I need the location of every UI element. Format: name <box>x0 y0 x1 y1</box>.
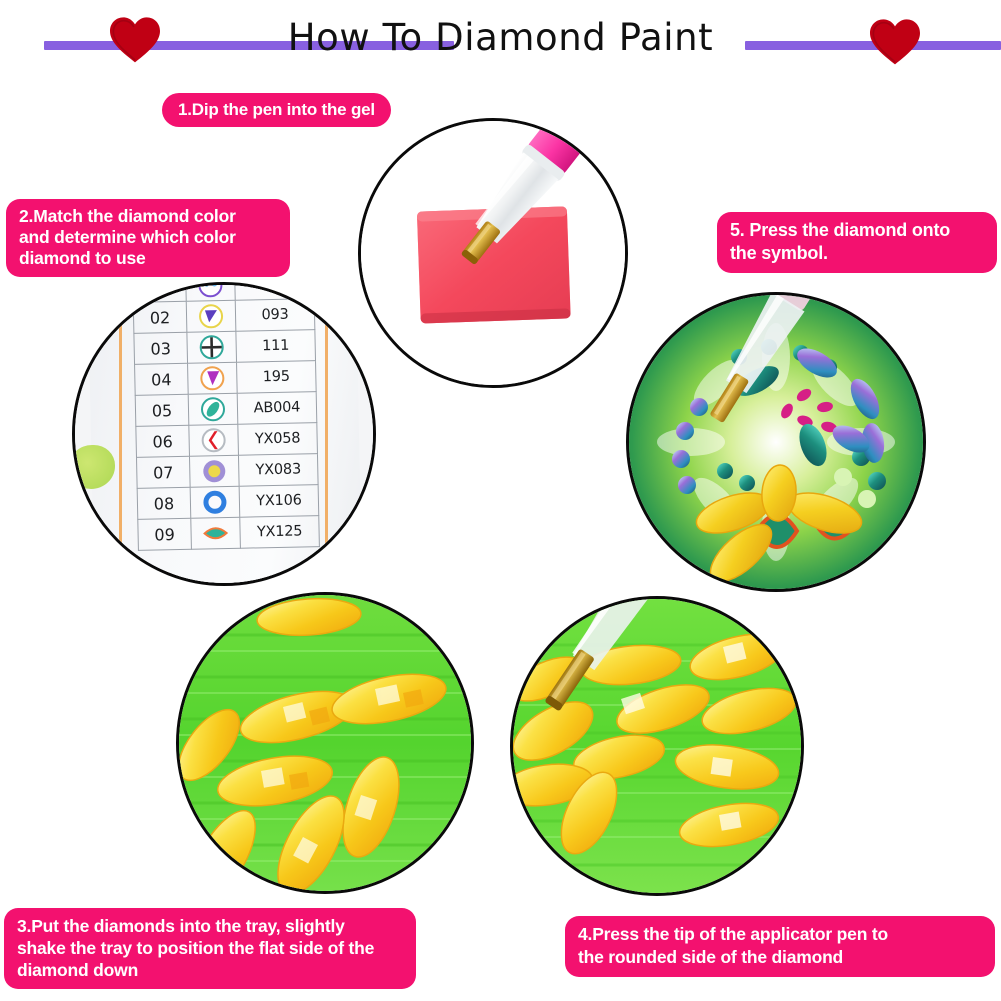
chart-number: 05 <box>135 394 189 426</box>
double-dot-symbol <box>186 282 236 301</box>
chart-code: 195 <box>237 361 317 394</box>
paper-edge-right <box>325 282 328 586</box>
color-chart-table: 028 02 093 03 111 <box>132 282 320 551</box>
chart-code: YX125 <box>240 516 320 549</box>
triangle-symbol <box>186 300 236 332</box>
step-4-label: 4.Press the tip of the applicator pen to… <box>565 916 995 977</box>
chart-code: 028 <box>235 282 315 300</box>
chart-number: 06 <box>136 425 190 457</box>
chart-number: 03 <box>134 332 188 364</box>
chart-code: YX106 <box>239 485 319 518</box>
table-row: 06 YX058 <box>136 423 318 458</box>
chart-number: 04 <box>135 363 189 395</box>
chart-code: 093 <box>235 299 315 332</box>
plus-symbol <box>187 331 237 363</box>
arrow-left-symbol <box>189 424 239 456</box>
chart-code: AB004 <box>237 392 317 425</box>
page-title: How To Diamond Paint <box>0 14 1001 62</box>
dot-in-ring-symbol <box>189 455 239 487</box>
chart-number: 07 <box>136 456 190 488</box>
chart-code: 111 <box>236 330 316 363</box>
infographic-page: How To Diamond Paint 1.Dip the pen into … <box>0 0 1001 1001</box>
table-row: 09 YX125 <box>138 516 320 551</box>
table-row: 05 AB004 <box>135 392 317 427</box>
step-3-label: 3.Put the diamonds into the tray, slight… <box>4 908 416 989</box>
paper-edge-left <box>119 282 122 586</box>
pen-picking-diamond-photo <box>510 596 804 896</box>
step-1-label: 1.Dip the pen into the gel <box>162 93 391 127</box>
chart-code: YX058 <box>238 423 318 456</box>
diamonds-in-tray-photo <box>176 592 474 894</box>
canvas-teal-blob <box>72 529 101 555</box>
color-chart-photo: 028 02 093 03 111 <box>72 282 376 586</box>
diamond-placed-on-canvas-photo <box>626 292 926 592</box>
color-chart-surface: 028 02 093 03 111 <box>75 285 373 583</box>
leaf-symbol <box>191 517 241 549</box>
pen-dipped-in-gel-photo <box>358 118 628 388</box>
chart-number <box>133 282 187 302</box>
table-row: 08 YX106 <box>137 485 319 520</box>
table-row: 04 195 <box>135 361 317 396</box>
table-row: 03 111 <box>134 330 316 365</box>
table-row: 02 093 <box>133 299 315 334</box>
wedge-symbol <box>188 362 238 394</box>
chart-code: YX083 <box>238 454 318 487</box>
chart-number: 02 <box>133 301 187 333</box>
step-2-label: 2.Match the diamond color and determine … <box>6 199 290 277</box>
table-row: 07 YX083 <box>136 454 318 489</box>
open-ring-symbol <box>190 486 240 518</box>
chart-number: 08 <box>137 487 191 519</box>
page-header: How To Diamond Paint <box>0 0 1001 88</box>
slash-oval-symbol <box>188 393 238 425</box>
chart-number: 09 <box>138 518 192 550</box>
step-5-label: 5. Press the diamond onto the symbol. <box>717 212 997 273</box>
